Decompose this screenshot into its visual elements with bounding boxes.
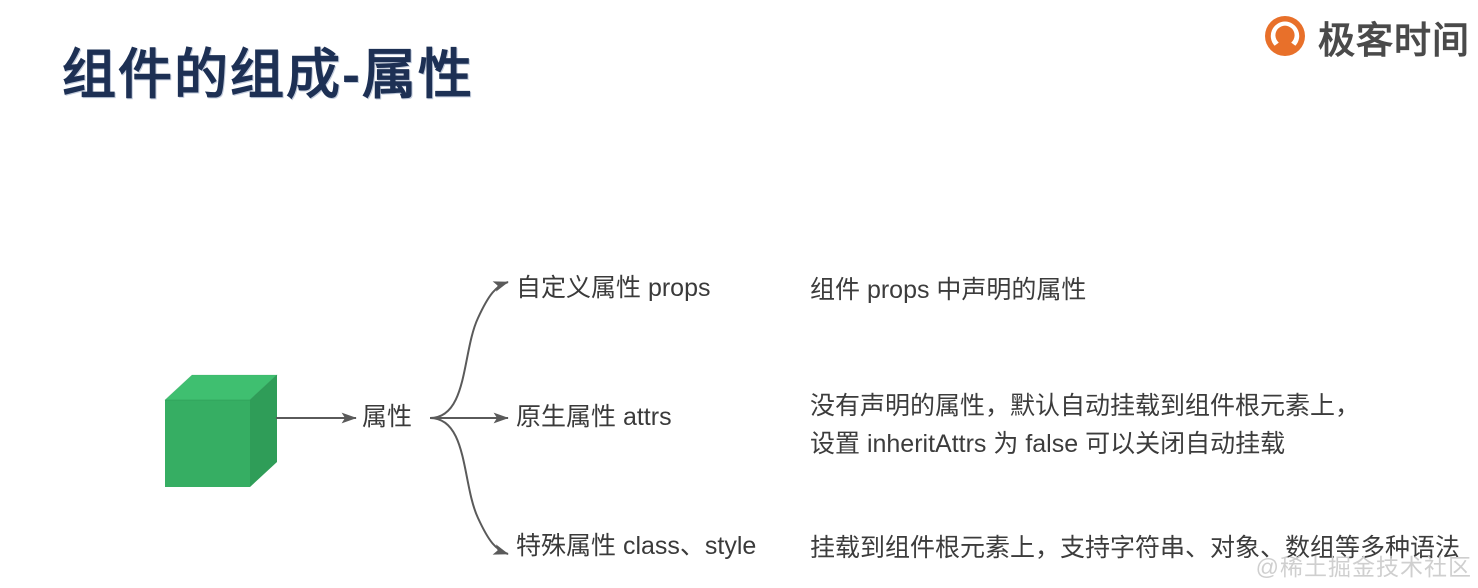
- page-title: 组件的组成-属性: [62, 44, 474, 106]
- description-attrs: 没有声明的属性，默认自动挂载到组件根元素上， 设置 inheritAttrs 为…: [810, 388, 1360, 463]
- green-cube-icon: [160, 370, 284, 494]
- brand-logo: 极客时间: [1262, 10, 1470, 64]
- mindmap-branch-label-props: 自定义属性 props: [516, 272, 710, 306]
- mindmap-branch-label-class-style: 特殊属性 class、style: [516, 530, 756, 564]
- geektime-circle-arrow-icon: [1262, 14, 1308, 60]
- description-line: 组件 props 中声明的属性: [810, 272, 1086, 310]
- slide-canvas: 组件的组成-属性 极客时间: [0, 0, 1478, 588]
- description-line: 设置 inheritAttrs 为 false 可以关闭自动挂载: [810, 426, 1360, 464]
- watermark: @稀土掘金技术社区: [1256, 548, 1472, 582]
- description-props: 组件 props 中声明的属性: [810, 272, 1086, 310]
- brand-name: 极客时间: [1318, 10, 1470, 64]
- mindmap-root-label: 属性: [362, 401, 412, 435]
- description-line: 没有声明的属性，默认自动挂载到组件根元素上，: [810, 388, 1360, 426]
- mindmap-branch-label-attrs: 原生属性 attrs: [516, 401, 672, 435]
